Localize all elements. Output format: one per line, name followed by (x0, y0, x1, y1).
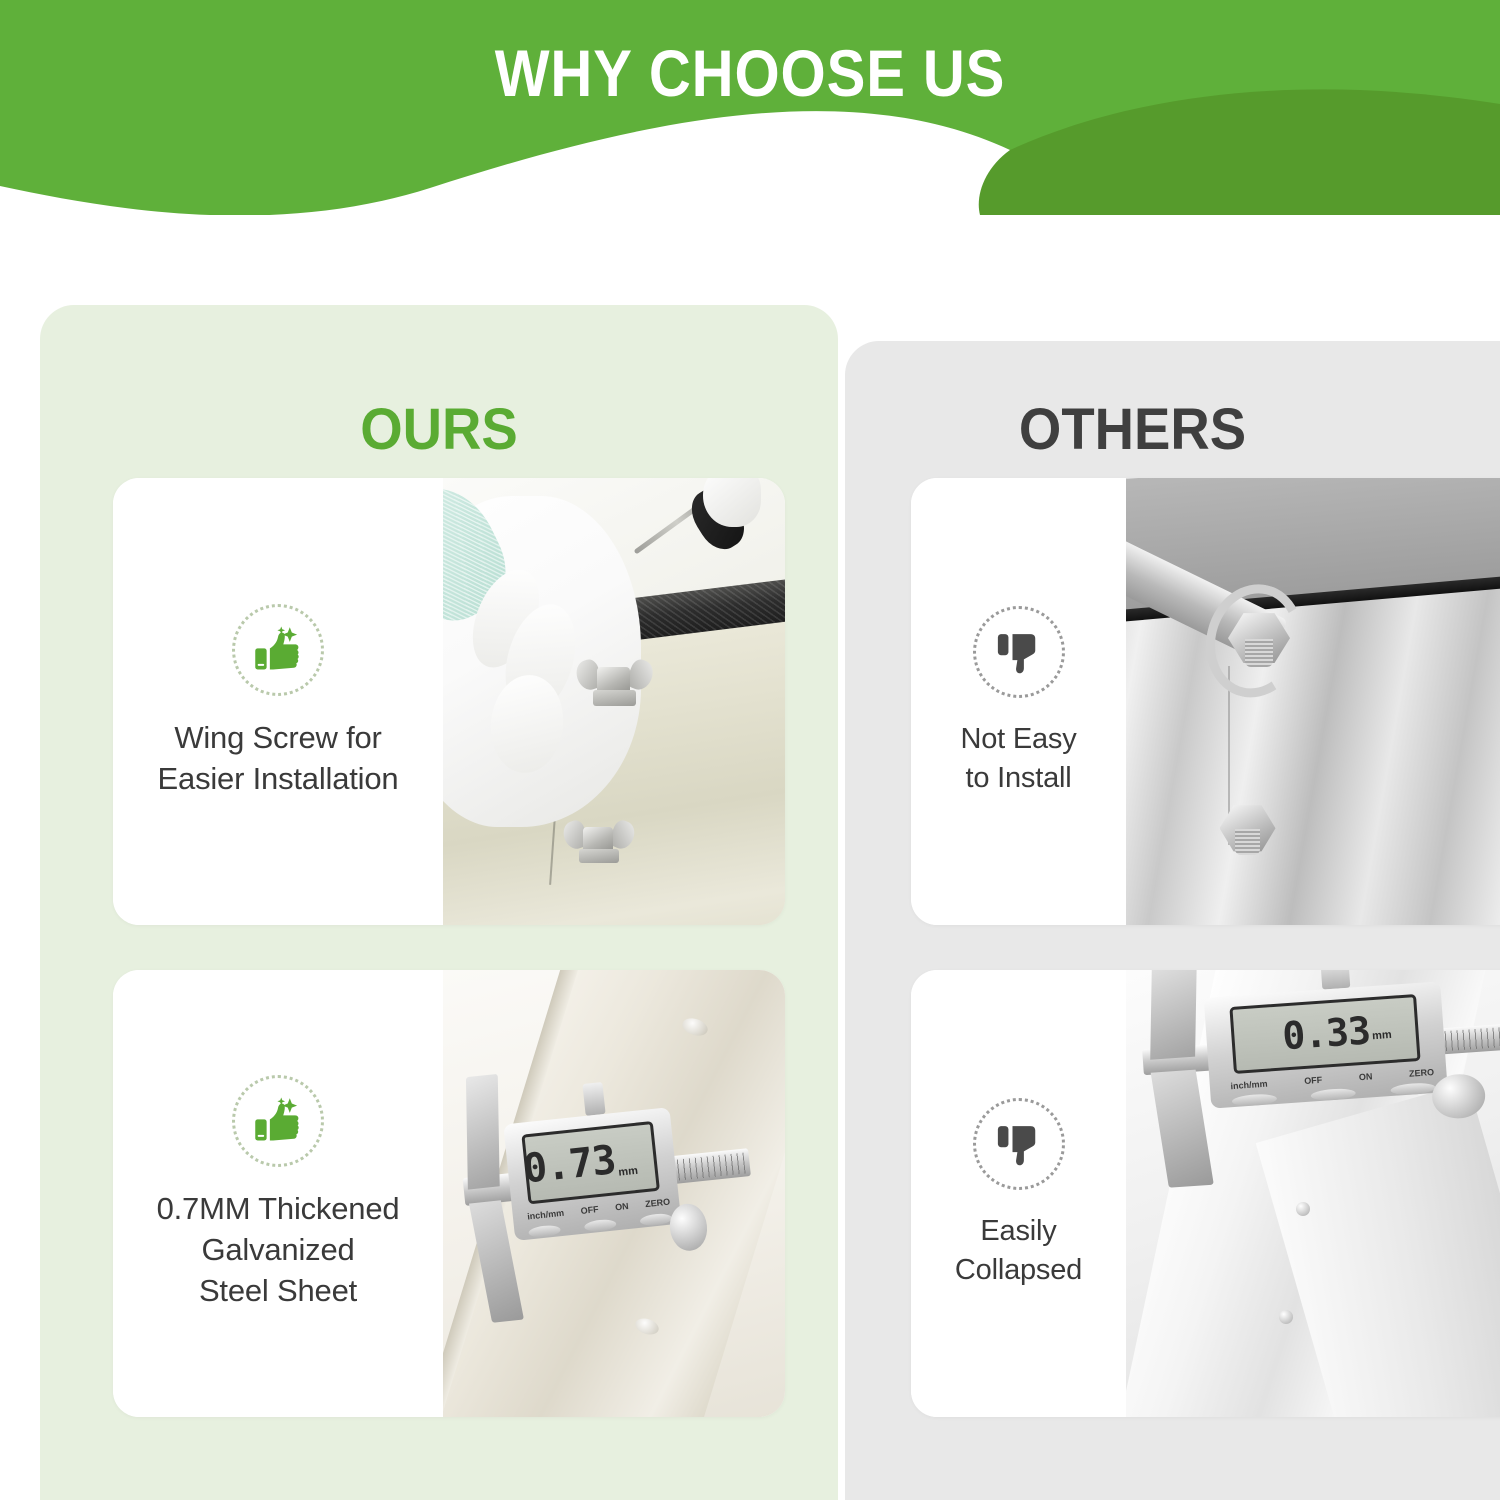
wing-screw (580, 657, 648, 715)
others-heading: OTHERS (825, 401, 1441, 459)
card-text-block: 0.7MM Thickened Galvanized Steel Sheet (113, 970, 443, 1417)
wrench-hex-nut-photo (1126, 478, 1500, 925)
others-drawback-card-1: Not Easy to Install (911, 478, 1500, 925)
thumbs-down-icon (973, 1098, 1065, 1190)
page-title: WHY CHOOSE US (90, 40, 1410, 106)
label-line: Steel Sheet (157, 1271, 400, 1312)
caliper-reading: 0.33 (1281, 1009, 1371, 1059)
caliper-measuring-others-photo: 0.33 mm inch/mm OFF ON ZERO (1126, 970, 1500, 1417)
caliper-button (1390, 1082, 1436, 1096)
label-line: Collapsed (955, 1251, 1082, 1289)
wing-screw (566, 818, 630, 872)
caliper-reading: 0.73 (520, 1138, 617, 1193)
caliper-button (584, 1219, 617, 1233)
caliper-unit: mm (617, 1165, 638, 1179)
others-drawback-card-2: Easily Collapsed 0.33 mm inch/mm OFF ON … (911, 970, 1500, 1417)
hex-bolt (1228, 612, 1290, 664)
wing-screw-install-photo (443, 478, 785, 925)
caliper-display: 0.33 mm (1229, 994, 1421, 1074)
card-text-block: Easily Collapsed (911, 970, 1126, 1417)
digital-caliper: 0.73 mm inch/mm OFF ON ZERO (452, 1054, 762, 1315)
caliper-measuring-ours-photo: 0.73 mm inch/mm OFF ON ZERO (443, 970, 785, 1417)
label-line: Galvanized (157, 1230, 400, 1271)
caliper-unit: mm (1372, 1029, 1392, 1042)
caliper-btn-label: ON (1359, 1071, 1373, 1082)
label-line: Wing Screw for (158, 718, 399, 759)
caliper-button (528, 1225, 561, 1239)
caliper-button (1311, 1088, 1357, 1102)
caliper-btn-label: ZERO (1409, 1067, 1435, 1079)
caliper-display: 0.73 mm (521, 1121, 660, 1204)
card-text-block: Wing Screw for Easier Installation (113, 478, 443, 925)
card-label: 0.7MM Thickened Galvanized Steel Sheet (157, 1189, 400, 1312)
caliper-btn-label: ON (614, 1201, 628, 1212)
label-line: Easily (955, 1212, 1082, 1250)
card-label: Easily Collapsed (955, 1212, 1082, 1289)
ours-feature-card-2: 0.7MM Thickened Galvanized Steel Sheet 0… (113, 970, 785, 1417)
digital-caliper: 0.33 mm inch/mm OFF ON ZERO (1136, 970, 1500, 1181)
label-line: to Install (960, 759, 1076, 797)
hex-bolt (1220, 804, 1276, 852)
label-line: 0.7MM Thickened (157, 1189, 400, 1230)
thumbs-down-icon (973, 606, 1065, 698)
caliper-btn-label: OFF (1304, 1075, 1323, 1086)
caliper-button (1231, 1093, 1277, 1107)
ours-heading: OURS (64, 401, 814, 459)
thumbs-up-sparkle-icon (232, 1075, 324, 1167)
label-line: Easier Installation (158, 759, 399, 800)
thumbs-up-sparkle-icon (232, 604, 324, 696)
ours-feature-card-1: Wing Screw for Easier Installation (113, 478, 785, 925)
card-label: Not Easy to Install (960, 720, 1076, 797)
page-header: WHY CHOOSE US (0, 0, 1500, 215)
card-text-block: Not Easy to Install (911, 478, 1126, 925)
card-label: Wing Screw for Easier Installation (158, 718, 399, 800)
caliper-button (639, 1213, 672, 1227)
label-line: Not Easy (960, 720, 1076, 758)
